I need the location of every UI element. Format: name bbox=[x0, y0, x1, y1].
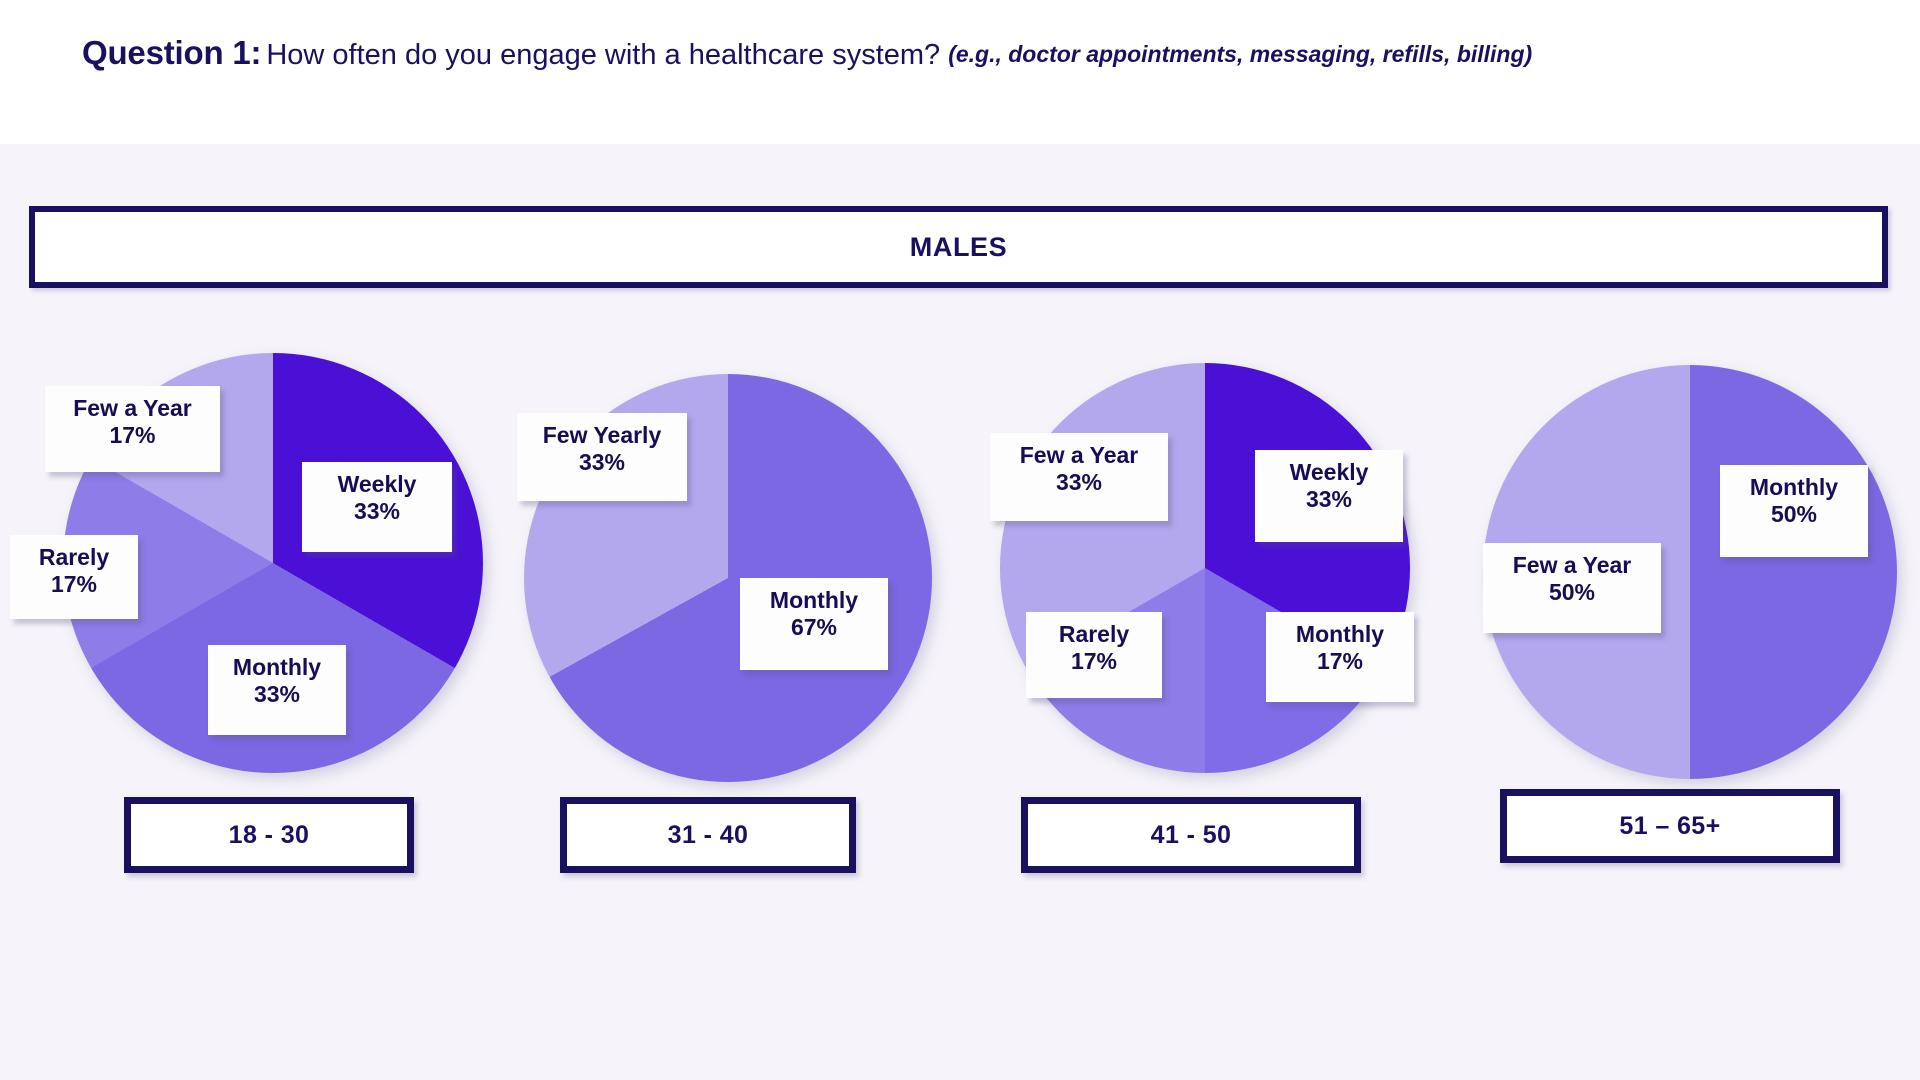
slice-label-weekly: Weekly33% bbox=[302, 462, 452, 552]
slice-label-percent: 33% bbox=[220, 681, 334, 708]
group-banner-males: MALES bbox=[29, 206, 1888, 288]
age-range-label: 51 – 65+ bbox=[1619, 812, 1720, 841]
slice-label-monthly: Monthly17% bbox=[1266, 612, 1414, 702]
slice-label-name: Monthly bbox=[1278, 621, 1402, 648]
slice-label-few-a-year: Few a Year17% bbox=[45, 386, 220, 472]
slice-label-percent: 17% bbox=[57, 422, 208, 449]
slice-label-name: Few a Year bbox=[1002, 442, 1156, 469]
slice-label-monthly: Monthly50% bbox=[1720, 465, 1868, 557]
age-range-box-1: 18 - 30 bbox=[124, 797, 414, 873]
slice-label-name: Weekly bbox=[314, 471, 440, 498]
age-range-label: 31 - 40 bbox=[668, 821, 749, 850]
slice-label-percent: 67% bbox=[752, 614, 876, 641]
age-range-label: 18 - 30 bbox=[229, 821, 310, 850]
slice-label-percent: 17% bbox=[1278, 648, 1402, 675]
slice-label-percent: 50% bbox=[1495, 579, 1649, 606]
slice-label-name: Monthly bbox=[1732, 474, 1856, 501]
slice-label-percent: 33% bbox=[1002, 469, 1156, 496]
slice-label-percent: 33% bbox=[529, 449, 675, 476]
slice-label-name: Few Yearly bbox=[529, 422, 675, 449]
slice-label-name: Weekly bbox=[1267, 459, 1391, 486]
slice-label-name: Monthly bbox=[220, 654, 334, 681]
slice-label-monthly: Monthly33% bbox=[208, 645, 346, 735]
age-range-box-4: 51 – 65+ bbox=[1500, 789, 1840, 863]
slice-label-few-a-year: Few a Year50% bbox=[1483, 543, 1661, 633]
slice-label-weekly: Weekly33% bbox=[1255, 450, 1403, 542]
slice-label-name: Rarely bbox=[1038, 621, 1150, 648]
slice-label-name: Few a Year bbox=[57, 395, 208, 422]
slice-label-name: Monthly bbox=[752, 587, 876, 614]
slice-label-percent: 17% bbox=[22, 571, 126, 598]
age-range-box-3: 41 - 50 bbox=[1021, 797, 1361, 873]
slice-label-few-yearly: Few Yearly33% bbox=[517, 413, 687, 501]
question-example-note: (e.g., doctor appointments, messaging, r… bbox=[948, 41, 1532, 67]
pie-chart-41-50 bbox=[1000, 363, 1410, 773]
slice-label-percent: 33% bbox=[1267, 486, 1391, 513]
slice-label-monthly: Monthly67% bbox=[740, 578, 888, 670]
group-banner-label: MALES bbox=[910, 232, 1008, 263]
question-header: Question 1:How often do you engage with … bbox=[0, 0, 1920, 144]
page-title: Question 1:How often do you engage with … bbox=[82, 33, 1532, 73]
slice-label-percent: 50% bbox=[1732, 501, 1856, 528]
age-range-label: 41 - 50 bbox=[1151, 821, 1232, 850]
slice-label-name: Few a Year bbox=[1495, 552, 1649, 579]
slice-label-name: Rarely bbox=[22, 544, 126, 571]
slice-label-rarely: Rarely17% bbox=[1026, 612, 1162, 698]
age-range-box-2: 31 - 40 bbox=[560, 797, 856, 873]
question-text: How often do you engage with a healthcar… bbox=[266, 39, 940, 71]
slice-label-rarely: Rarely17% bbox=[10, 535, 138, 619]
slice-label-few-a-year: Few a Year33% bbox=[990, 433, 1168, 521]
slice-label-percent: 33% bbox=[314, 498, 440, 525]
question-number-label: Question 1: bbox=[82, 34, 261, 71]
slice-label-percent: 17% bbox=[1038, 648, 1150, 675]
